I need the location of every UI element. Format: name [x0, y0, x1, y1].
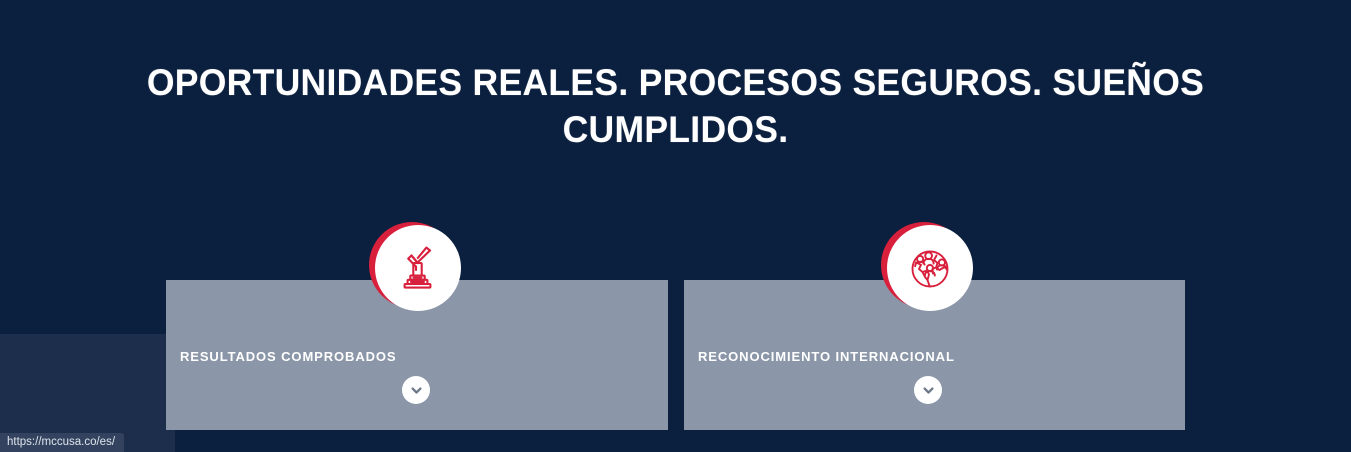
- globe-people-icon-badge: [881, 222, 973, 314]
- browser-status-bar-url: https://mccusa.co/es/: [0, 433, 124, 452]
- feature-cards-row: RESULTADOS COMPROBADOS: [166, 280, 1185, 430]
- trophy-check-icon-badge: [369, 222, 461, 314]
- page-root: OPORTUNIDADES REALES. PROCESOS SEGUROS. …: [0, 0, 1351, 452]
- expand-chevron-button-left[interactable]: [402, 376, 430, 404]
- card-label-reconocimiento: RECONOCIMIENTO INTERNACIONAL: [698, 349, 955, 364]
- chevron-down-icon: [921, 383, 936, 398]
- page-title: OPORTUNIDADES REALES. PROCESOS SEGUROS. …: [27, 59, 1324, 153]
- card-reconocimiento-internacional[interactable]: RECONOCIMIENTO INTERNACIONAL: [684, 280, 1185, 430]
- expand-chevron-button-right[interactable]: [914, 376, 942, 404]
- card-label-resultados: RESULTADOS COMPROBADOS: [180, 349, 397, 364]
- globe-people-icon: [887, 225, 973, 311]
- chevron-down-icon: [409, 383, 424, 398]
- trophy-check-icon: [375, 225, 461, 311]
- card-resultados-comprobados[interactable]: RESULTADOS COMPROBADOS: [166, 280, 668, 430]
